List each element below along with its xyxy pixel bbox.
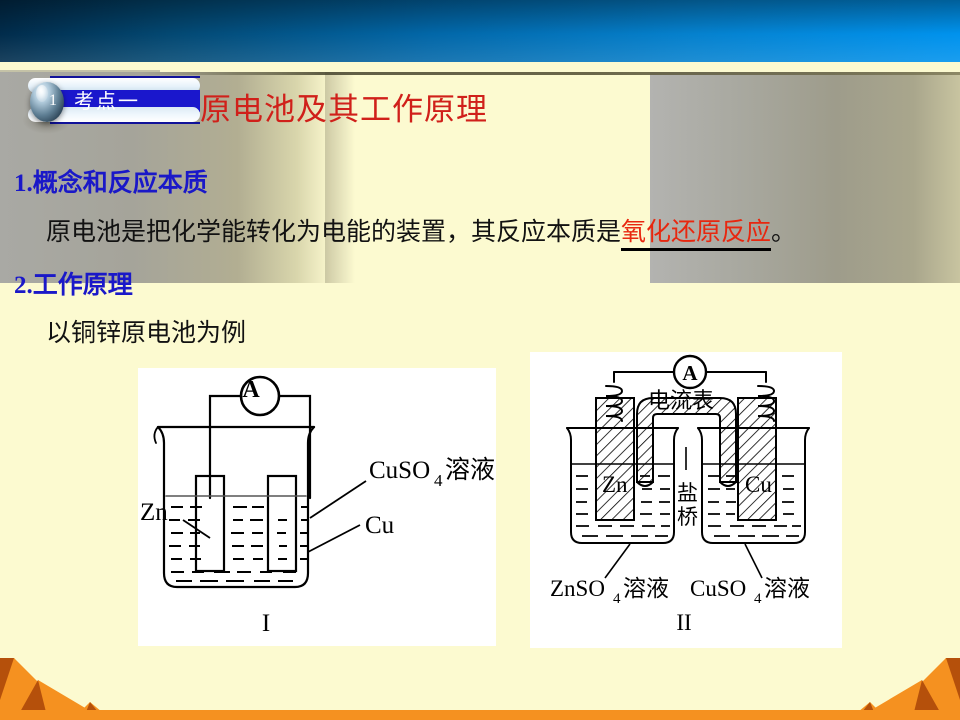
figure2-label-cu: Cu <box>745 472 772 497</box>
figure2-label-right-solution-sub: 4 <box>754 591 762 607</box>
badge-label: 考点一 <box>74 88 204 114</box>
figure1-ammeter-symbol: A <box>242 377 260 403</box>
figure2-label-left-solution: ZnSO <box>550 576 605 601</box>
body-paragraph-2: 以铜锌原电池为例 <box>46 313 246 349</box>
header-divider-rule <box>140 72 960 75</box>
figure2-label-saltbridge-2: 桥 <box>677 505 698 529</box>
figure2-label-saltbridge-1: 盐 <box>677 481 698 505</box>
figure2-label-left-solution-word: 溶液 <box>623 576 669 602</box>
background-band-right <box>650 72 960 283</box>
figure1-label-zn: Zn <box>140 499 168 526</box>
figure-galvanic-cell-single-beaker: Zn CuSO 4 溶液 Cu A I <box>138 368 496 646</box>
body-text-before: 原电池是把化学能转化为电能的装置，其反应本质是 <box>46 219 621 246</box>
figure2-label-zn: Zn <box>602 472 628 497</box>
badge-line-bottom <box>50 122 200 124</box>
badge-number: 1 <box>43 89 63 113</box>
section-badge: 1 考点一 <box>16 76 206 132</box>
figure2-label-right-solution-word: 溶液 <box>764 576 810 602</box>
figure2-ammeter-symbol: A <box>682 361 698 385</box>
top-bar-sheen <box>0 0 960 62</box>
top-blue-bar <box>0 0 960 62</box>
header-divider-rule-left <box>0 70 160 72</box>
figure1-caption: I <box>262 610 270 637</box>
bottom-decoration <box>0 640 960 720</box>
body-text-after: 。 <box>771 219 796 246</box>
heading-2: 2.工作原理 <box>14 265 133 301</box>
figure-galvanic-cell-salt-bridge: A 电流表 盐 桥 Zn Cu ZnSO 4 溶液 CuSO 4 溶液 II <box>530 352 842 648</box>
mountain-left-mid-front <box>38 680 92 712</box>
figure2-label-right-solution: CuSO <box>690 576 746 601</box>
figure2-label-ammeter: 电流表 <box>648 389 714 414</box>
figure2-copper-electrode <box>738 398 776 520</box>
page-title: 原电池及其工作原理 <box>200 84 488 129</box>
body-paragraph-1: 原电池是把化学能转化为电能的装置，其反应本质是氧化还原反应。 <box>46 212 796 248</box>
bottom-baseline <box>0 710 960 720</box>
heading-1: 1.概念和反应本质 <box>14 163 208 199</box>
figure2-caption: II <box>676 610 691 635</box>
mountain-right-mid-front <box>868 680 922 712</box>
figure1-label-solution: CuSO <box>369 457 430 484</box>
figure1-label-cu: Cu <box>365 512 395 539</box>
body-text-highlight: 氧化还原反应 <box>621 219 771 251</box>
figure1-label-solution-word: 溶液 <box>445 455 495 484</box>
figure1-label-solution-sub: 4 <box>434 471 443 490</box>
figure2-label-left-solution-sub: 4 <box>613 591 621 607</box>
slide-root: 1 考点一 原电池及其工作原理 1.概念和反应本质 原电池是把化学能转化为电能的… <box>0 0 960 720</box>
figure2-zinc-electrode <box>596 398 634 520</box>
